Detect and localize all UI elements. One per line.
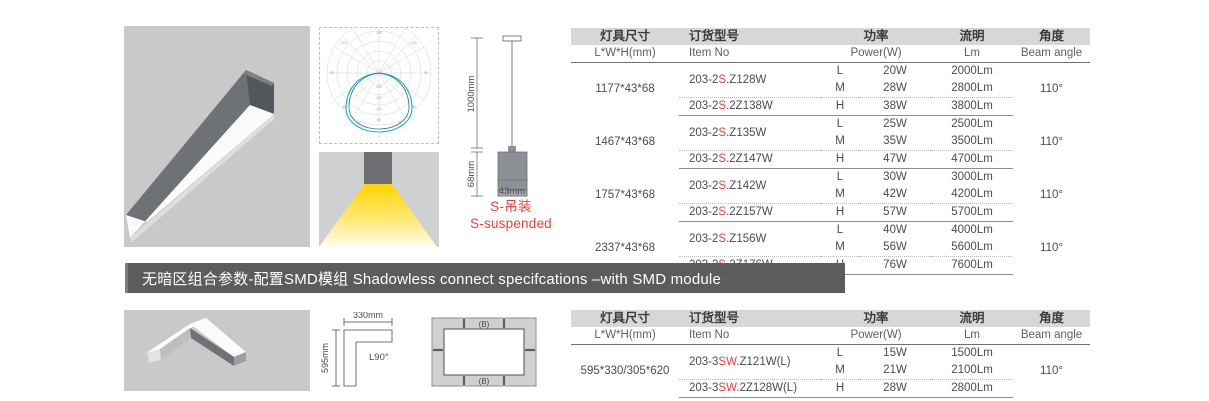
header2-angle-cn: 角度 — [1013, 310, 1090, 327]
mounting-caption-cn: S-吊装 — [455, 198, 567, 215]
svg-text:120: 120 — [376, 107, 382, 111]
spec-table-corner-body: 595*330/305*620203-3SW.Z121W(L)L15W1500L… — [571, 345, 1090, 398]
item-no-accent: SW — [718, 382, 736, 394]
cell-item-no: 203-2S.Z156W — [679, 222, 821, 257]
svg-text:180: 180 — [376, 31, 382, 35]
cell-power: 56W — [859, 239, 931, 257]
cell-beam-angle: 110° — [1013, 222, 1090, 275]
cell-power: 42W — [859, 186, 931, 204]
corner-width-label: 330mm — [353, 312, 383, 320]
cell-level: H — [821, 380, 859, 398]
item-no-accent: S — [718, 206, 726, 218]
cell-lumen: 2000Lm — [931, 63, 1013, 81]
header-itemno-cn: 订货型号 — [679, 28, 821, 45]
header2-angle-en: Beam angle — [1013, 327, 1090, 345]
header-angle-cn: 角度 — [1013, 28, 1090, 45]
header2-dimension-cn: 灯具尺寸 — [571, 310, 679, 327]
mounting-type-caption: S-吊装 S-suspended — [455, 198, 567, 232]
cell-beam-angle: 110° — [1013, 63, 1090, 116]
cell-power: 57W — [859, 204, 931, 222]
cell-power: 20W — [859, 63, 931, 81]
cell-power: 28W — [859, 380, 931, 398]
table2-header-row-en: L*W*H(mm) Item No Power(W) Lm Beam angle — [571, 327, 1090, 345]
header2-dimension-en: L*W*H(mm) — [571, 327, 679, 345]
spec-table-corner-container: 灯具尺寸 订货型号 功率 流明 角度 L*W*H(mm) Item No Pow… — [571, 310, 1090, 398]
cell-lumen: 2800Lm — [931, 380, 1013, 398]
body-width-svg: 43mm — [455, 175, 565, 197]
cell-level: L — [821, 63, 859, 81]
cell-item-no: 203-2S.Z135W — [679, 116, 821, 151]
cell-level: H — [821, 98, 859, 116]
cell-lumen: 2800Lm — [931, 80, 1013, 98]
header-itemno-en: Item No — [679, 45, 821, 63]
item-no-accent: S — [718, 100, 726, 112]
corner-angle-label: L90° — [369, 352, 389, 363]
cell-lumen: 4200Lm — [931, 186, 1013, 204]
cell-item-no: 203-2S.Z142W — [679, 169, 821, 204]
rect-label-bottom: (B) — [479, 377, 490, 386]
cell-lumen: 3800Lm — [931, 98, 1013, 116]
table-row: 1757*43*68203-2S.Z142WL30W3000Lm110° — [571, 169, 1090, 187]
cell-item-no: 203-3SW.Z121W(L) — [679, 345, 821, 380]
beam-spread-svg — [319, 152, 439, 247]
spec-table-suspended: 灯具尺寸 订货型号 功率 流明 角度 L*W*H(mm) Item No Pow… — [571, 28, 1090, 275]
cell-power: 30W — [859, 169, 931, 187]
svg-text:0: 0 — [378, 135, 380, 139]
cell-power: 15W — [859, 345, 931, 363]
cell-level: M — [821, 133, 859, 151]
table-row: 595*330/305*620203-3SW.Z121W(L)L15W1500L… — [571, 345, 1090, 363]
cell-power: 28W — [859, 80, 931, 98]
linear-luminaire-illustration — [124, 26, 310, 247]
cell-item-no: 203-2S.2Z157W — [679, 204, 821, 222]
corner-height-label: 595mm — [320, 343, 330, 373]
suspension-length-label: 1000mm — [466, 75, 477, 112]
table-header-row-cn: 灯具尺寸 订货型号 功率 流明 角度 — [571, 28, 1090, 45]
cell-beam-angle: 110° — [1013, 345, 1090, 398]
cell-power: 40W — [859, 222, 931, 240]
cell-dimension: 1757*43*68 — [571, 169, 679, 222]
item-no-accent: S — [718, 153, 726, 165]
spec-table-corner: 灯具尺寸 订货型号 功率 流明 角度 L*W*H(mm) Item No Pow… — [571, 310, 1090, 398]
cell-dimension: 1177*43*68 — [571, 63, 679, 116]
cell-beam-angle: 110° — [1013, 169, 1090, 222]
cell-power: 25W — [859, 116, 931, 134]
rect-assembly-svg: (B) (B) — [424, 312, 548, 392]
cell-level: L — [821, 169, 859, 187]
svg-text:90: 90 — [330, 71, 334, 75]
cell-item-no: 203-2S.2Z147W — [679, 151, 821, 169]
spec-table-suspended-container: 灯具尺寸 订货型号 功率 流明 角度 L*W*H(mm) Item No Pow… — [571, 28, 1090, 275]
item-no-accent: S — [718, 127, 726, 139]
cell-level: L — [821, 222, 859, 240]
mounting-caption-en: S-suspended — [455, 215, 567, 232]
header-lumen-en: Lm — [931, 45, 1013, 63]
beam-spread-render — [319, 152, 439, 247]
cell-lumen: 3000Lm — [931, 169, 1013, 187]
header2-itemno-cn: 订货型号 — [679, 310, 821, 327]
cell-lumen: 2100Lm — [931, 362, 1013, 380]
svg-text:60: 60 — [342, 105, 346, 109]
cell-lumen: 5700Lm — [931, 204, 1013, 222]
cell-lumen: 1500Lm — [931, 345, 1013, 363]
cell-dimension: 1467*43*68 — [571, 116, 679, 169]
cell-beam-angle: 110° — [1013, 116, 1090, 169]
cell-level: M — [821, 80, 859, 98]
l90-corner-svg: 330mm 595mm L90° — [314, 312, 414, 392]
header2-power-cn: 功率 — [821, 310, 931, 327]
table-header-row-en: L*W*H(mm) Item No Power(W) Lm Beam angle — [571, 45, 1090, 63]
cell-lumen: 3500Lm — [931, 133, 1013, 151]
cell-item-no: 203-2S.Z128W — [679, 63, 821, 98]
svg-text:30: 30 — [356, 121, 360, 125]
svg-text:160: 160 — [376, 96, 382, 100]
cell-item-no: 203-2S.2Z138W — [679, 98, 821, 116]
header-angle-en: Beam angle — [1013, 45, 1090, 63]
cell-level: M — [821, 186, 859, 204]
header2-power-en: Power(W) — [821, 327, 931, 345]
product-photo-linear-pendant — [124, 26, 310, 247]
header2-lumen-cn: 流明 — [931, 310, 1013, 327]
cell-level: L — [821, 116, 859, 134]
cell-lumen: 2500Lm — [931, 116, 1013, 134]
cell-level: M — [821, 239, 859, 257]
svg-text:60: 60 — [412, 105, 416, 109]
header2-lumen-en: Lm — [931, 327, 1013, 345]
cell-power: 47W — [859, 151, 931, 169]
svg-text:200: 200 — [376, 85, 382, 89]
cell-item-no: 203-3SW.2Z128W(L) — [679, 380, 821, 398]
header-dimension-cn: 灯具尺寸 — [571, 28, 679, 45]
polar-curve-svg: 180 90 90 120 120 60 60 30 30 0 200 160 … — [320, 28, 438, 143]
cell-lumen: 7600Lm — [931, 257, 1013, 275]
banner-text: 无暗区组合参数-配置SMD模组 Shadowless connect speci… — [142, 268, 721, 289]
header-power-cn: 功率 — [821, 28, 931, 45]
table-row: 1177*43*68203-2S.Z128WL20W2000Lm110° — [571, 63, 1090, 81]
corner-connector-illustration — [124, 310, 310, 391]
cell-level: M — [821, 362, 859, 380]
section-banner-shadowless: 无暗区组合参数-配置SMD模组 Shadowless connect speci… — [125, 263, 845, 293]
item-no-accent: SW — [718, 356, 736, 368]
cell-level: L — [821, 345, 859, 363]
rect-label-top: (B) — [479, 320, 490, 329]
body-width-dimension: 43mm — [455, 175, 565, 197]
header-power-en: Power(W) — [821, 45, 931, 63]
svg-text:120: 120 — [341, 41, 347, 45]
svg-text:120: 120 — [411, 41, 417, 45]
svg-text:90: 90 — [424, 71, 428, 75]
cell-level: H — [821, 204, 859, 222]
polar-light-distribution-diagram: 180 90 90 120 120 60 60 30 30 0 200 160 … — [319, 27, 439, 144]
rectangular-assembly-drawing: (B) (B) — [424, 312, 548, 392]
cell-lumen: 5600Lm — [931, 239, 1013, 257]
spec-table-suspended-body: 1177*43*68203-2S.Z128WL20W2000Lm110°M28W… — [571, 63, 1090, 275]
header-lumen-cn: 流明 — [931, 28, 1013, 45]
item-no-accent: S — [718, 74, 726, 86]
cell-dimension: 595*330/305*620 — [571, 345, 679, 398]
cell-power: 76W — [859, 257, 931, 275]
item-no-accent: S — [718, 180, 726, 192]
header-dimension-en: L*W*H(mm) — [571, 45, 679, 63]
l90-corner-dimension-drawing: 330mm 595mm L90° — [314, 312, 414, 392]
suspension-dimension-drawing: 1000mm 68mm — [455, 30, 565, 195]
cell-power: 21W — [859, 362, 931, 380]
cell-level: H — [821, 151, 859, 169]
svg-text:30: 30 — [398, 121, 402, 125]
body-width-label: 43mm — [499, 186, 525, 197]
item-no-accent: S — [718, 233, 726, 245]
cell-power: 35W — [859, 133, 931, 151]
table2-header-row-cn: 灯具尺寸 订货型号 功率 流明 角度 — [571, 310, 1090, 327]
table-row: 1467*43*68203-2S.Z135WL25W2500Lm110° — [571, 116, 1090, 134]
cell-power: 38W — [859, 98, 931, 116]
svg-text:80: 80 — [377, 118, 381, 122]
cell-lumen: 4000Lm — [931, 222, 1013, 240]
product-photo-corner-connector — [124, 310, 310, 391]
cell-lumen: 4700Lm — [931, 151, 1013, 169]
header2-itemno-en: Item No — [679, 327, 821, 345]
suspension-drawing-svg: 1000mm 68mm — [455, 30, 565, 198]
table-row: 2337*43*68203-2S.Z156WL40W4000Lm110° — [571, 222, 1090, 240]
